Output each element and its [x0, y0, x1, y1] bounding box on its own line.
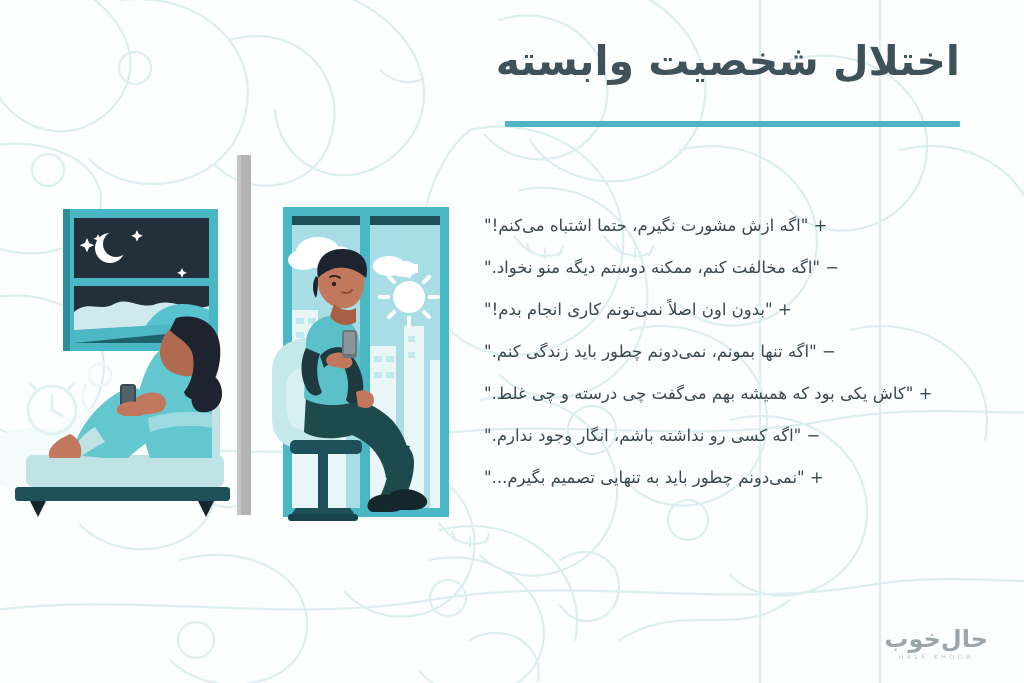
- quote-text: "اگه کسی رو نداشته باشم، انگار وجود ندار…: [484, 426, 801, 445]
- brand-logo: حال‌خوب HALE KHOOB: [884, 627, 988, 661]
- quote-text: "نمی‌دونم چطور باید به تنهایی تصمیم بگیر…: [484, 468, 805, 487]
- list-item: + "بدون اون اصلاً نمی‌تونم کاری انجام بد…: [484, 299, 979, 320]
- quote-text: "کاش یکی بود که همیشه بهم می‌گفت چی درست…: [484, 384, 913, 403]
- quote-list: + "اگه ازش مشورت نگیرم، حتما اشتباه می‌ک…: [484, 215, 979, 488]
- list-item: + "کاش یکی بود که همیشه بهم می‌گفت چی در…: [484, 383, 979, 404]
- text-column: اختلال شخصیت وابسته + "اگه ازش مشورت نگی…: [464, 0, 1024, 683]
- quote-bullet: −: [822, 342, 836, 361]
- quote-bullet: −: [807, 426, 821, 445]
- sun-icon: [380, 268, 438, 326]
- quote-bullet: +: [814, 216, 828, 235]
- quote-bullet: +: [778, 300, 792, 319]
- brand-mark-persian: حال‌خوب: [884, 627, 988, 651]
- left-scene-night: [0, 209, 230, 517]
- list-item: − "اگه تنها بمونم، نمی‌دونم چطور باید زن…: [484, 341, 979, 362]
- title-underline-rule: [505, 121, 960, 127]
- list-item: − "اگه کسی رو نداشته باشم، انگار وجود ند…: [484, 425, 979, 446]
- quote-bullet: +: [919, 384, 933, 403]
- quote-bullet: +: [810, 468, 824, 487]
- right-scene-day: [272, 207, 449, 521]
- quote-text: "اگه مخالفت کنم، ممکنه دوستم دیگه منو نخ…: [484, 258, 820, 277]
- list-item: + "اگه ازش مشورت نگیرم، حتما اشتباه می‌ک…: [484, 215, 979, 236]
- poster-canvas: اختلال شخصیت وابسته + "اگه ازش مشورت نگی…: [0, 0, 1024, 683]
- quote-bullet: −: [825, 258, 839, 277]
- quote-text: "اگه تنها بمونم، نمی‌دونم چطور باید زندگ…: [484, 342, 817, 361]
- quote-text: "بدون اون اصلاً نمی‌تونم کاری انجام بدم!…: [484, 300, 773, 319]
- quote-text: "اگه ازش مشورت نگیرم، حتما اشتباه می‌کنم…: [484, 216, 808, 235]
- page-title: اختلال شخصیت وابسته: [504, 38, 960, 85]
- list-item: + "نمی‌دونم چطور باید به تنهایی تصمیم بگ…: [484, 467, 979, 488]
- list-item: − "اگه مخالفت کنم، ممکنه دوستم دیگه منو …: [484, 257, 979, 278]
- brand-subtitle-latin: HALE KHOOB: [884, 653, 988, 661]
- illustration-two-scenes: [0, 0, 470, 683]
